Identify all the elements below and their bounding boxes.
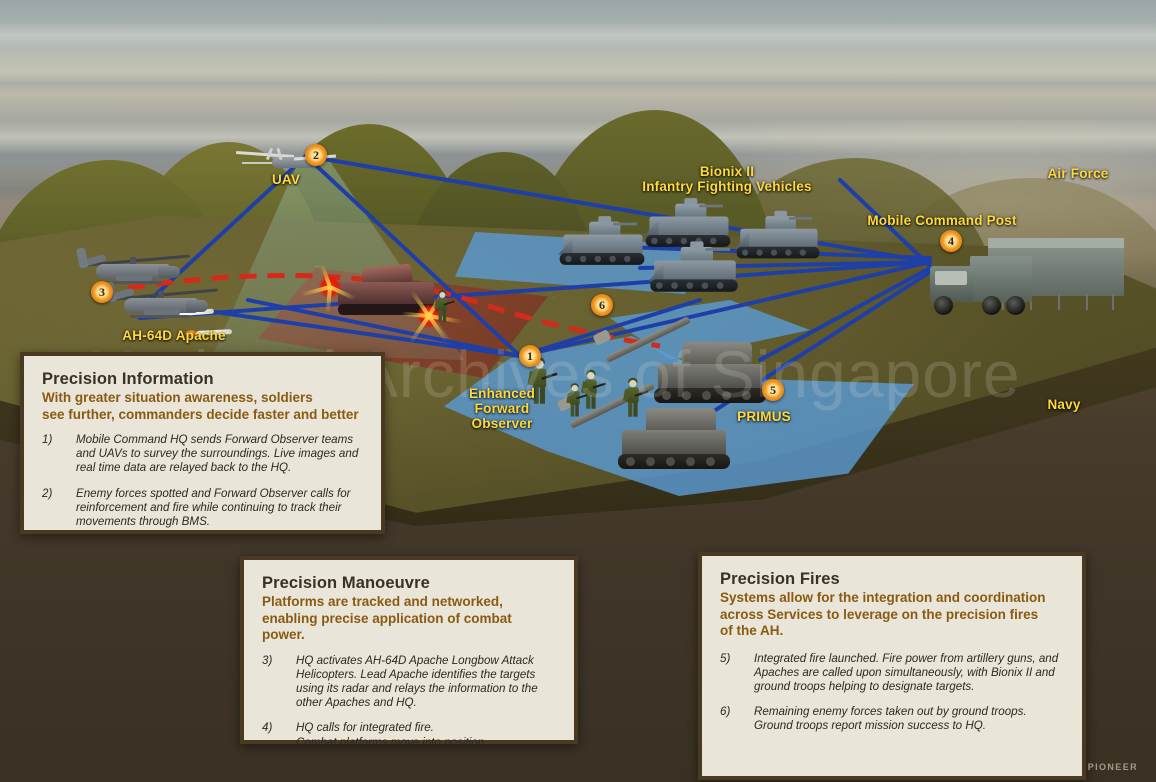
panel-title: Precision Fires <box>720 570 1066 589</box>
label-mobile-command-post: Mobile Command Post <box>852 213 1032 228</box>
panel-subtitle: With greater situation awareness, soldie… <box>42 390 365 423</box>
step-badge-2[interactable]: 2 <box>305 144 327 166</box>
list-item: 1) Mobile Command HQ sends Forward Obser… <box>42 433 365 476</box>
step-badge-6[interactable]: 6 <box>591 294 613 316</box>
label-uav: UAV <box>246 172 326 187</box>
label-navy: Navy <box>1022 397 1106 412</box>
step-number: 4) <box>262 721 296 749</box>
step-number: 3) <box>262 654 296 711</box>
label-enhanced-forward-observer: Enhanced Forward Observer <box>452 386 552 431</box>
list-item: 4) HQ calls for integrated fire. Combat … <box>262 721 558 749</box>
step-badge-3[interactable]: 3 <box>91 281 113 303</box>
step-number: 5) <box>720 652 754 695</box>
step-badge-5[interactable]: 5 <box>762 379 784 401</box>
infographic-canvas: National Archives of Singapore UAV AH-64… <box>0 0 1156 782</box>
panel-title: Precision Information <box>42 370 365 389</box>
step-text: Enemy forces spotted and Forward Observe… <box>76 487 365 530</box>
step-number: 6) <box>720 705 754 733</box>
step-badge-4[interactable]: 4 <box>940 230 962 252</box>
step-text: HQ activates AH-64D Apache Longbow Attac… <box>296 654 558 711</box>
label-air-force: Air Force <box>1028 166 1128 181</box>
panel-precision-manoeuvre: Precision Manoeuvre Platforms are tracke… <box>240 556 578 744</box>
step-number: 2) <box>42 487 76 530</box>
panel-precision-fires: Precision Fires Systems allow for the in… <box>698 552 1086 780</box>
step-text: Integrated fire launched. Fire power fro… <box>754 652 1066 695</box>
step-badge-1[interactable]: 1 <box>519 345 541 367</box>
step-number: 1) <box>42 433 76 476</box>
panel-step-list: 3) HQ activates AH-64D Apache Longbow At… <box>262 654 558 750</box>
list-item: 3) HQ activates AH-64D Apache Longbow At… <box>262 654 558 711</box>
list-item: 6) Remaining enemy forces taken out by g… <box>720 705 1066 733</box>
label-primus: PRIMUS <box>716 409 812 424</box>
explosion-icon <box>304 266 364 310</box>
panel-subtitle: Systems allow for the integration and co… <box>720 590 1066 640</box>
pioneer-credit: PIONEER <box>1088 762 1138 772</box>
bionix-ifv <box>648 239 739 294</box>
panel-step-list: 1) Mobile Command HQ sends Forward Obser… <box>42 433 365 529</box>
list-item: 2) Enemy forces spotted and Forward Obse… <box>42 487 365 530</box>
step-text: HQ calls for integrated fire. Combat pla… <box>296 721 558 749</box>
step-text: Remaining enemy forces taken out by grou… <box>754 705 1066 733</box>
label-ah-64d-apache: AH-64D Apache <box>104 328 244 343</box>
panel-subtitle: Platforms are tracked and networked, ena… <box>262 594 558 644</box>
panel-precision-information: Precision Information With greater situa… <box>20 352 385 534</box>
bionix-ifv <box>558 214 646 267</box>
mobile-command-post-vehicle <box>930 238 1130 318</box>
explosion-icon <box>396 292 466 338</box>
step-text: Mobile Command HQ sends Forward Observer… <box>76 433 365 476</box>
label-bionix-ii: Bionix II Infantry Fighting Vehicles <box>622 164 832 194</box>
apache-helicopter <box>110 282 220 322</box>
panel-title: Precision Manoeuvre <box>262 574 558 593</box>
bionix-ifv <box>735 209 821 261</box>
panel-step-list: 5) Integrated fire launched. Fire power … <box>720 652 1066 734</box>
list-item: 5) Integrated fire launched. Fire power … <box>720 652 1066 695</box>
